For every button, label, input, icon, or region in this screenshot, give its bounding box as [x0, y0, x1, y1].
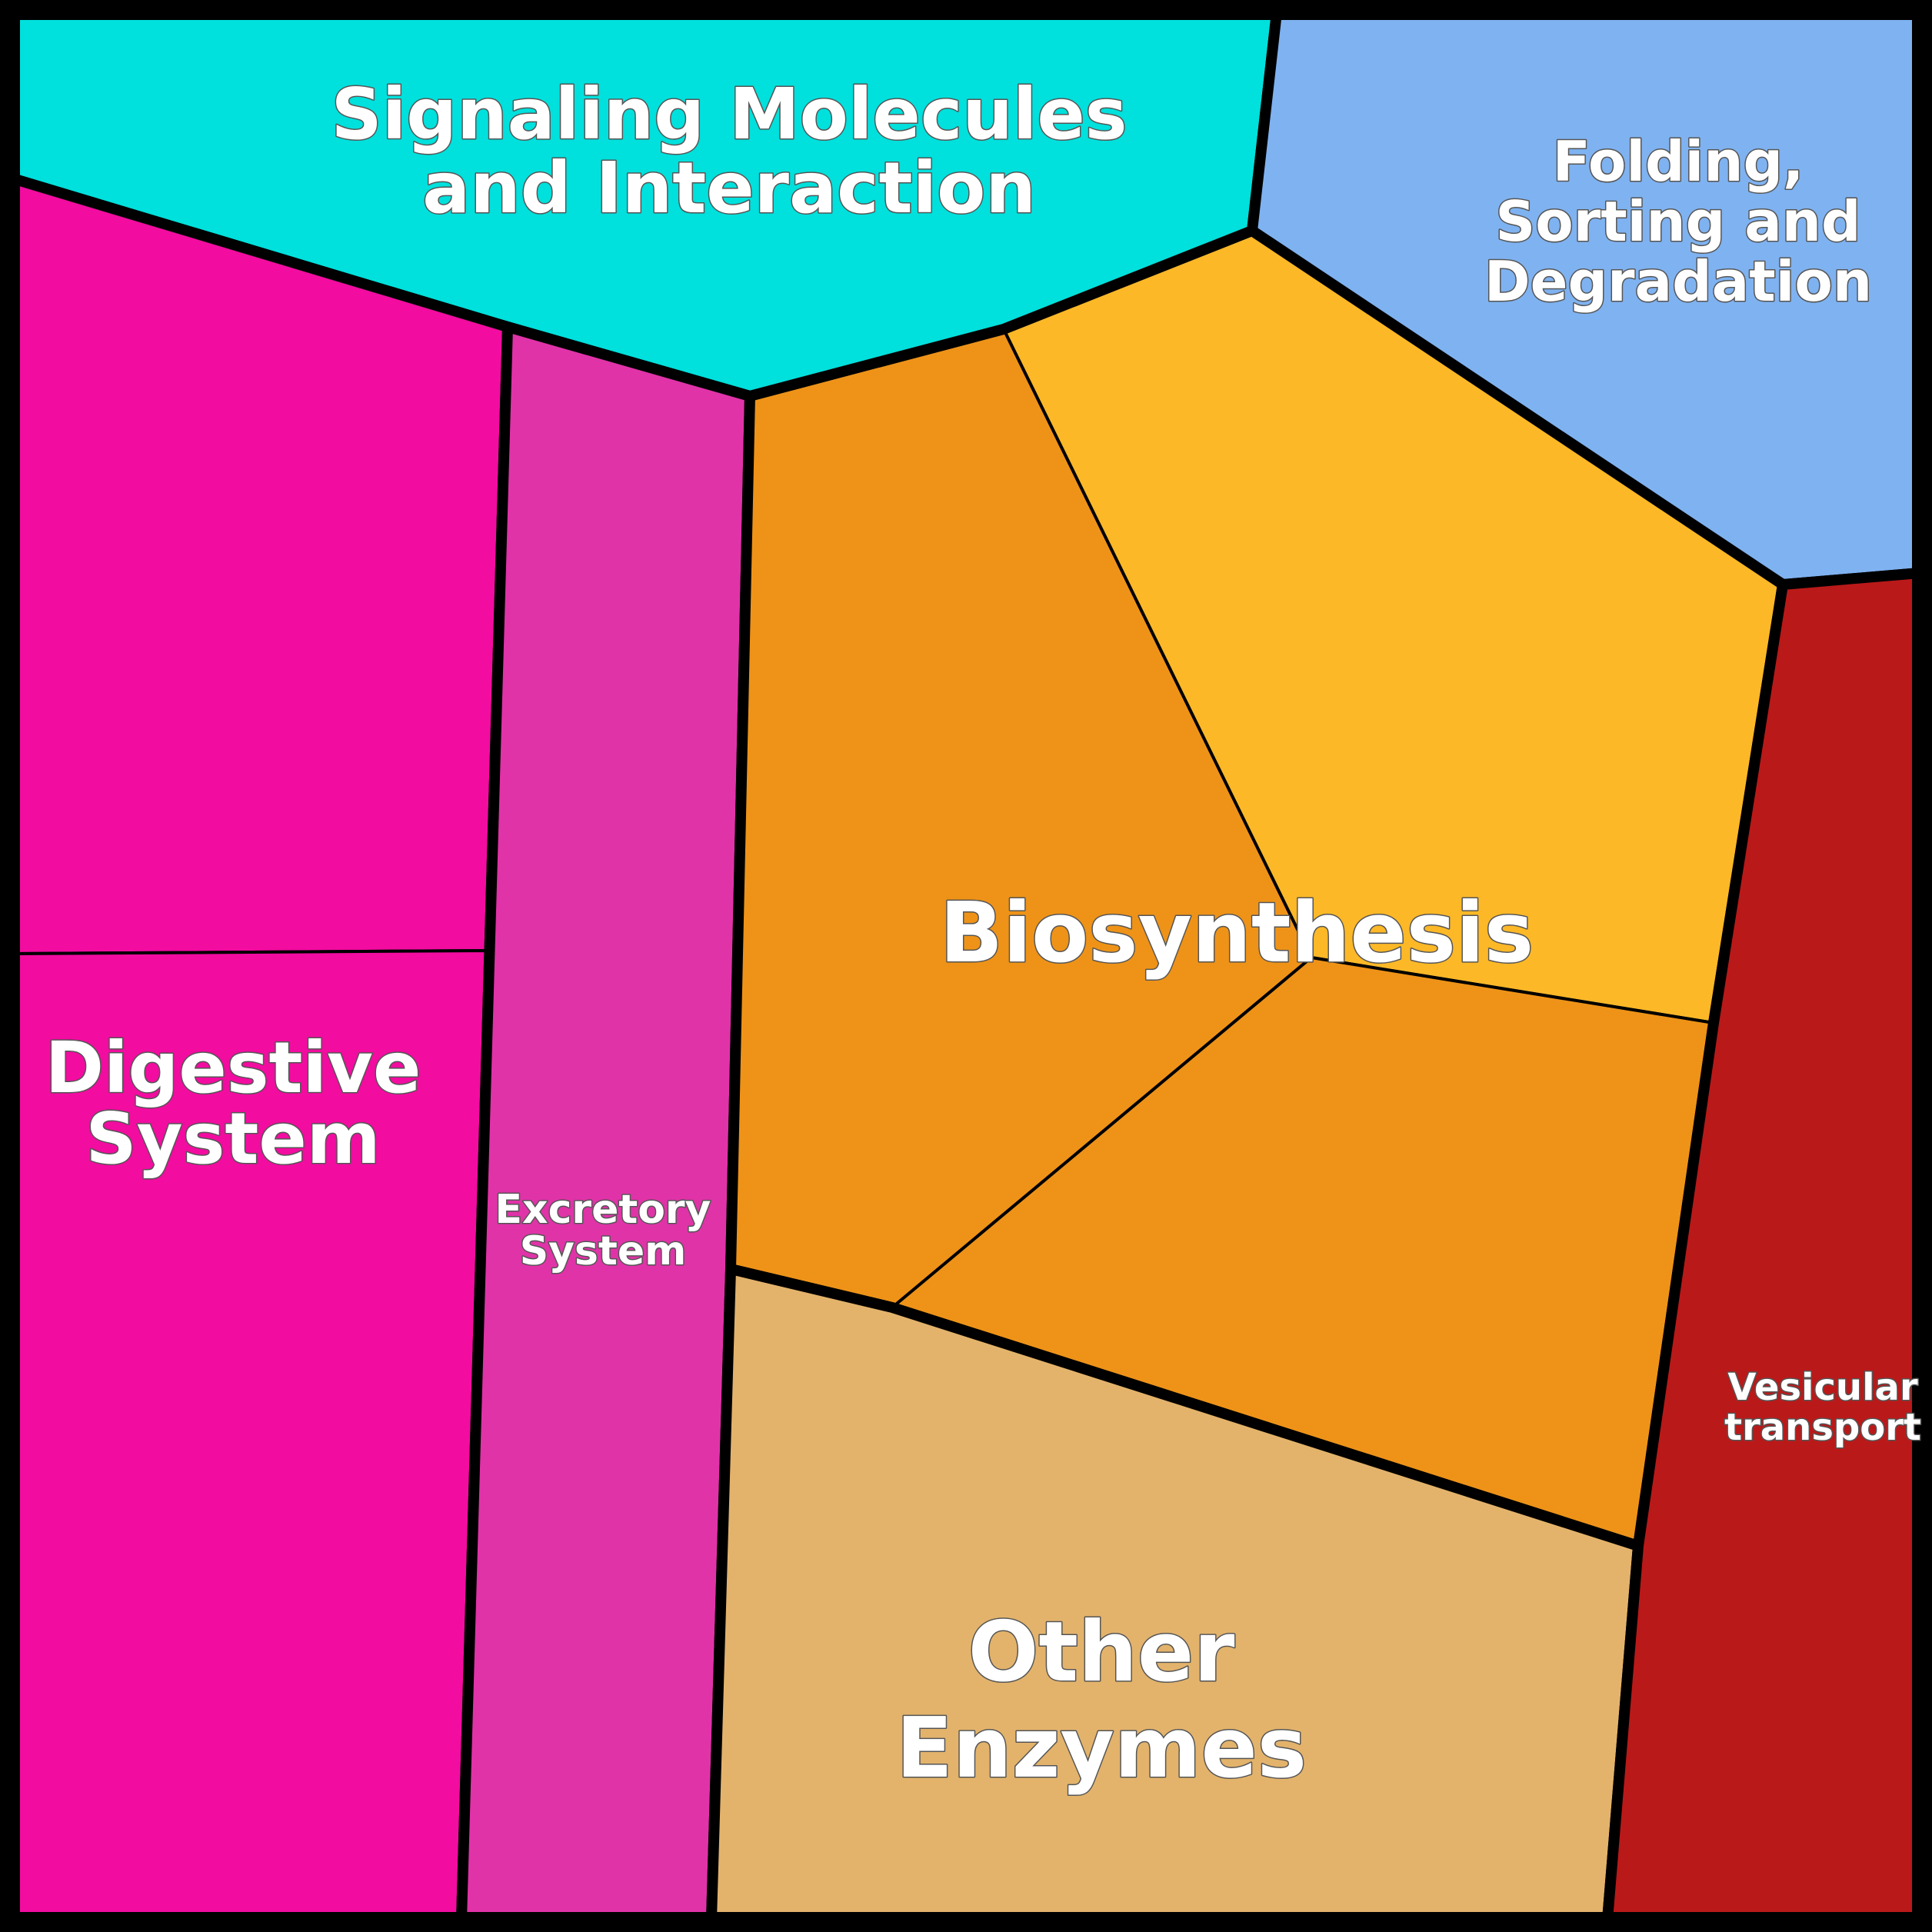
- label-folding-line2: Sorting and: [1495, 189, 1860, 254]
- label-signaling-line2: and Interaction: [422, 147, 1036, 229]
- label-vesicular-line1: Vesicular: [1727, 1366, 1918, 1409]
- label-vesicular-transport: Vesicular transport: [1724, 1366, 1921, 1449]
- label-excretory-line2: System: [520, 1228, 687, 1274]
- treemap-canvas: Signaling Molecules and Interaction Fold…: [0, 0, 1932, 1932]
- label-digestive-line1: Digestive: [45, 1027, 421, 1109]
- label-vesicular-line2: transport: [1724, 1406, 1921, 1449]
- label-digestive-system: Digestive System: [45, 1027, 421, 1180]
- label-folding-line3: Degradation: [1484, 249, 1872, 314]
- label-signaling-line1: Signaling Molecules: [331, 73, 1127, 155]
- label-digestive-line2: System: [85, 1098, 380, 1180]
- label-excretory-line1: Excretory: [495, 1187, 711, 1233]
- label-biosynthesis: Biosynthesis: [940, 885, 1534, 981]
- label-excretory-system: Excretory System: [495, 1187, 711, 1274]
- cell-excretory-system[interactable]: [461, 327, 750, 1920]
- label-folding-line1: Folding,: [1553, 129, 1804, 194]
- label-biosynthesis-line1: Biosynthesis: [940, 885, 1534, 981]
- label-other-enzymes-line2: Enzymes: [896, 1700, 1307, 1797]
- label-other-enzymes-line1: Other: [968, 1604, 1235, 1700]
- label-signaling-molecules-and-interaction: Signaling Molecules and Interaction: [331, 73, 1127, 229]
- voronoi-treemap-figure: Signaling Molecules and Interaction Fold…: [0, 0, 1932, 1932]
